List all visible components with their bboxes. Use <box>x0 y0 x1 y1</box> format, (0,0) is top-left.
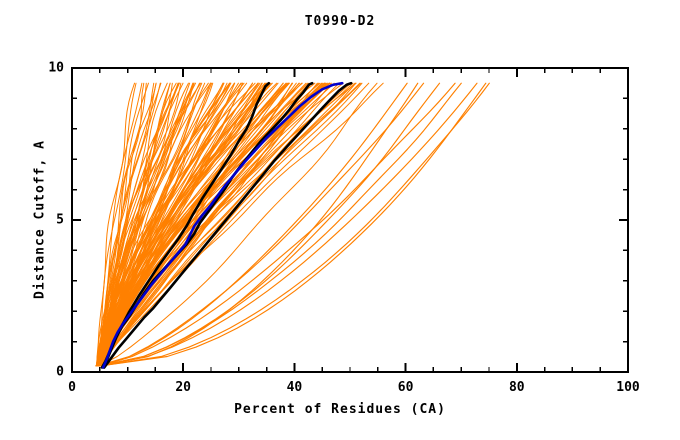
x-tick-label: 0 <box>68 380 76 395</box>
x-tick-label: 100 <box>616 380 639 395</box>
plot-canvas <box>0 0 680 440</box>
y-tick-label: 0 <box>32 365 64 380</box>
x-tick-label: 60 <box>398 380 414 395</box>
x-tick-label: 80 <box>509 380 525 395</box>
series-layer <box>96 83 490 367</box>
x-tick-label: 20 <box>175 380 191 395</box>
y-tick-label: 5 <box>32 213 64 228</box>
x-tick-label: 40 <box>287 380 303 395</box>
model-curve <box>97 83 407 366</box>
chart-root: T0990-D2 Distance Cutoff, A Percent of R… <box>0 0 680 440</box>
y-tick-label: 10 <box>32 61 64 76</box>
